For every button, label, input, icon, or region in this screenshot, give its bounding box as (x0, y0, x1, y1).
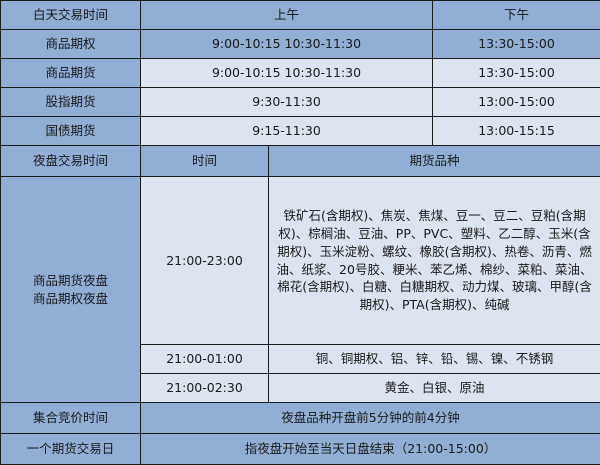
table-row: 商品期货 9:00-10:15 10:30-11:30 13:30-15:00 (1, 59, 600, 88)
cell-products-2100-0230: 黄金、白银、原油 (269, 374, 600, 403)
row-label-commodity-options: 商品期权 (1, 30, 141, 59)
cell-time-2100-0230: 21:00-02:30 (141, 374, 269, 403)
cell-afternoon-bond-futures: 13:00-15:15 (433, 117, 600, 146)
column-header-time: 时间 (141, 146, 269, 177)
row-label-commodity-futures: 商品期货 (1, 59, 141, 88)
cell-morning-bond-futures: 9:15-11:30 (141, 117, 433, 146)
table-row: 商品期权 9:00-10:15 10:30-11:30 13:30-15:00 (1, 30, 600, 59)
cell-products-2100-0100: 铜、铜期权、铝、锌、铅、锡、镍、不锈钢 (269, 345, 600, 374)
row-label-index-futures: 股指期货 (1, 88, 141, 117)
night-group-label-line1: 商品期货夜盘 (6, 272, 135, 290)
cell-call-auction-value: 夜盘品种开盘前5分钟的前4分钟 (141, 403, 600, 434)
day-section-header-row: 白天交易时间 上午 下午 (1, 1, 600, 30)
night-group-label-line2: 商品期权夜盘 (6, 290, 135, 308)
cell-morning-index-futures: 9:30-11:30 (141, 88, 433, 117)
table-row: 股指期货 9:30-11:30 13:00-15:00 (1, 88, 600, 117)
cell-morning-commodity-options: 9:00-10:15 10:30-11:30 (141, 30, 433, 59)
trading-hours-table: 白天交易时间 上午 下午 商品期权 9:00-10:15 10:30-11:30… (0, 0, 600, 465)
row-label-trading-day: 一个期货交易日 (1, 434, 141, 465)
day-section-label: 白天交易时间 (1, 1, 141, 30)
column-header-products: 期货品种 (269, 146, 600, 177)
cell-afternoon-index-futures: 13:00-15:00 (433, 88, 600, 117)
night-section-label: 夜盘交易时间 (1, 146, 141, 177)
row-label-call-auction: 集合竞价时间 (1, 403, 141, 434)
row-label-bond-futures: 国债期货 (1, 117, 141, 146)
table-row: 集合竞价时间 夜盘品种开盘前5分钟的前4分钟 (1, 403, 600, 434)
table-row: 一个期货交易日 指夜盘开始至当天日盘结束（21:00-15:00） (1, 434, 600, 465)
night-group-label: 商品期货夜盘 商品期权夜盘 (1, 177, 141, 403)
cell-morning-commodity-futures: 9:00-10:15 10:30-11:30 (141, 59, 433, 88)
cell-time-2100-0100: 21:00-01:00 (141, 345, 269, 374)
column-header-morning: 上午 (141, 1, 433, 30)
cell-time-2100-2300: 21:00-23:00 (141, 177, 269, 345)
cell-afternoon-commodity-futures: 13:30-15:00 (433, 59, 600, 88)
cell-trading-day-value: 指夜盘开始至当天日盘结束（21:00-15:00） (141, 434, 600, 465)
table-row: 商品期货夜盘 商品期权夜盘 21:00-23:00 铁矿石(含期权)、焦炭、焦煤… (1, 177, 600, 345)
column-header-afternoon: 下午 (433, 1, 600, 30)
cell-products-2100-2300: 铁矿石(含期权)、焦炭、焦煤、豆一、豆二、豆粕(含期权)、棕榈油、豆油、PP、P… (269, 177, 600, 345)
table-row: 国债期货 9:15-11:30 13:00-15:15 (1, 117, 600, 146)
cell-afternoon-commodity-options: 13:30-15:00 (433, 30, 600, 59)
night-section-header-row: 夜盘交易时间 时间 期货品种 (1, 146, 600, 177)
